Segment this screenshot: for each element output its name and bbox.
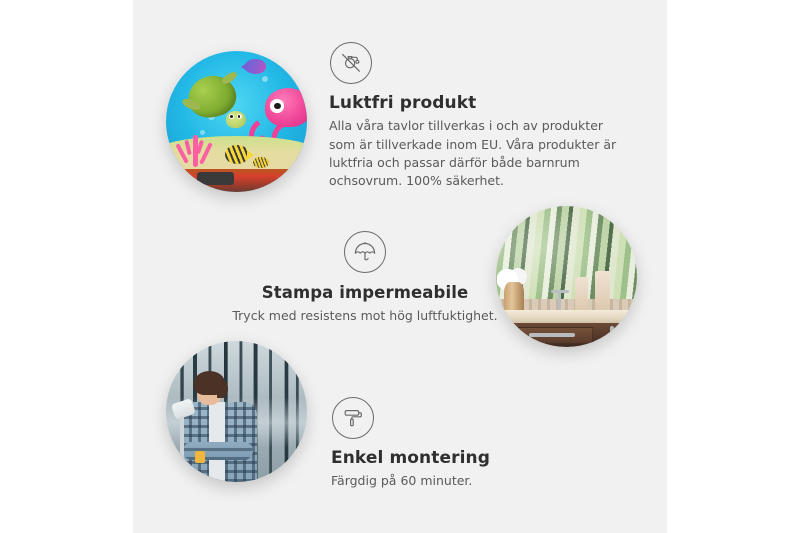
feature-panel: Luktfri produkt Alla våra tavlor tillver… [133, 0, 667, 533]
turtle-eye [237, 114, 242, 119]
photo-ocean [166, 51, 307, 192]
masking-tape [195, 451, 205, 463]
feature-title: Luktfri produkt [329, 93, 621, 113]
coral [174, 130, 216, 167]
sea-turtle [183, 76, 248, 130]
fish-purple [245, 59, 266, 73]
coral-branch [185, 140, 193, 155]
turtle-eye [229, 114, 234, 119]
umbrella-icon [344, 231, 386, 273]
photo-bathroom [496, 206, 637, 347]
toiletry-bottle [595, 271, 611, 313]
feature-title: Enkel montering [331, 448, 591, 468]
feature-body: Tryck med resistens mot hög luftfuktighe… [215, 307, 515, 325]
feature-body: Färgdig på 60 minuter. [331, 472, 591, 490]
feature-body: Alla våra tavlor tillverkas i och av pro… [329, 117, 621, 190]
feature-odour-free: Luktfri produkt Alla våra tavlor tillver… [329, 42, 621, 190]
photo-ocean-artwork [166, 51, 307, 192]
person-arms [183, 442, 253, 460]
person-with-roller [174, 372, 261, 482]
vanity-cabinet [510, 323, 637, 347]
toiletry-bottle [575, 277, 588, 314]
photo-forest [166, 341, 307, 482]
photo-bathroom-artwork [496, 206, 637, 347]
feature-waterproof-print: Stampa impermeabile Tryck med resistens … [215, 231, 515, 325]
paint-roller-handle [180, 416, 184, 462]
paint-roller-icon [332, 397, 374, 439]
fish-yellow [225, 145, 249, 163]
photo-forest-artwork [166, 341, 307, 482]
fish-yellow-small [253, 157, 269, 168]
drawer-handle [529, 333, 575, 337]
cabinet-handle [610, 326, 614, 341]
ocean-foreground-band [166, 169, 307, 192]
octopus-eye [270, 99, 284, 112]
feature-easy-assembly: Enkel montering Färgdig på 60 minuter. [331, 397, 591, 491]
feature-title: Stampa impermeabile [215, 283, 515, 303]
octopus-head [265, 88, 307, 127]
screenshot-root: Luktfri produkt Alla våra tavlor tillver… [0, 0, 800, 533]
person-hair [194, 371, 225, 395]
turtle-head [226, 111, 247, 128]
no-fragrance-icon [330, 42, 372, 84]
